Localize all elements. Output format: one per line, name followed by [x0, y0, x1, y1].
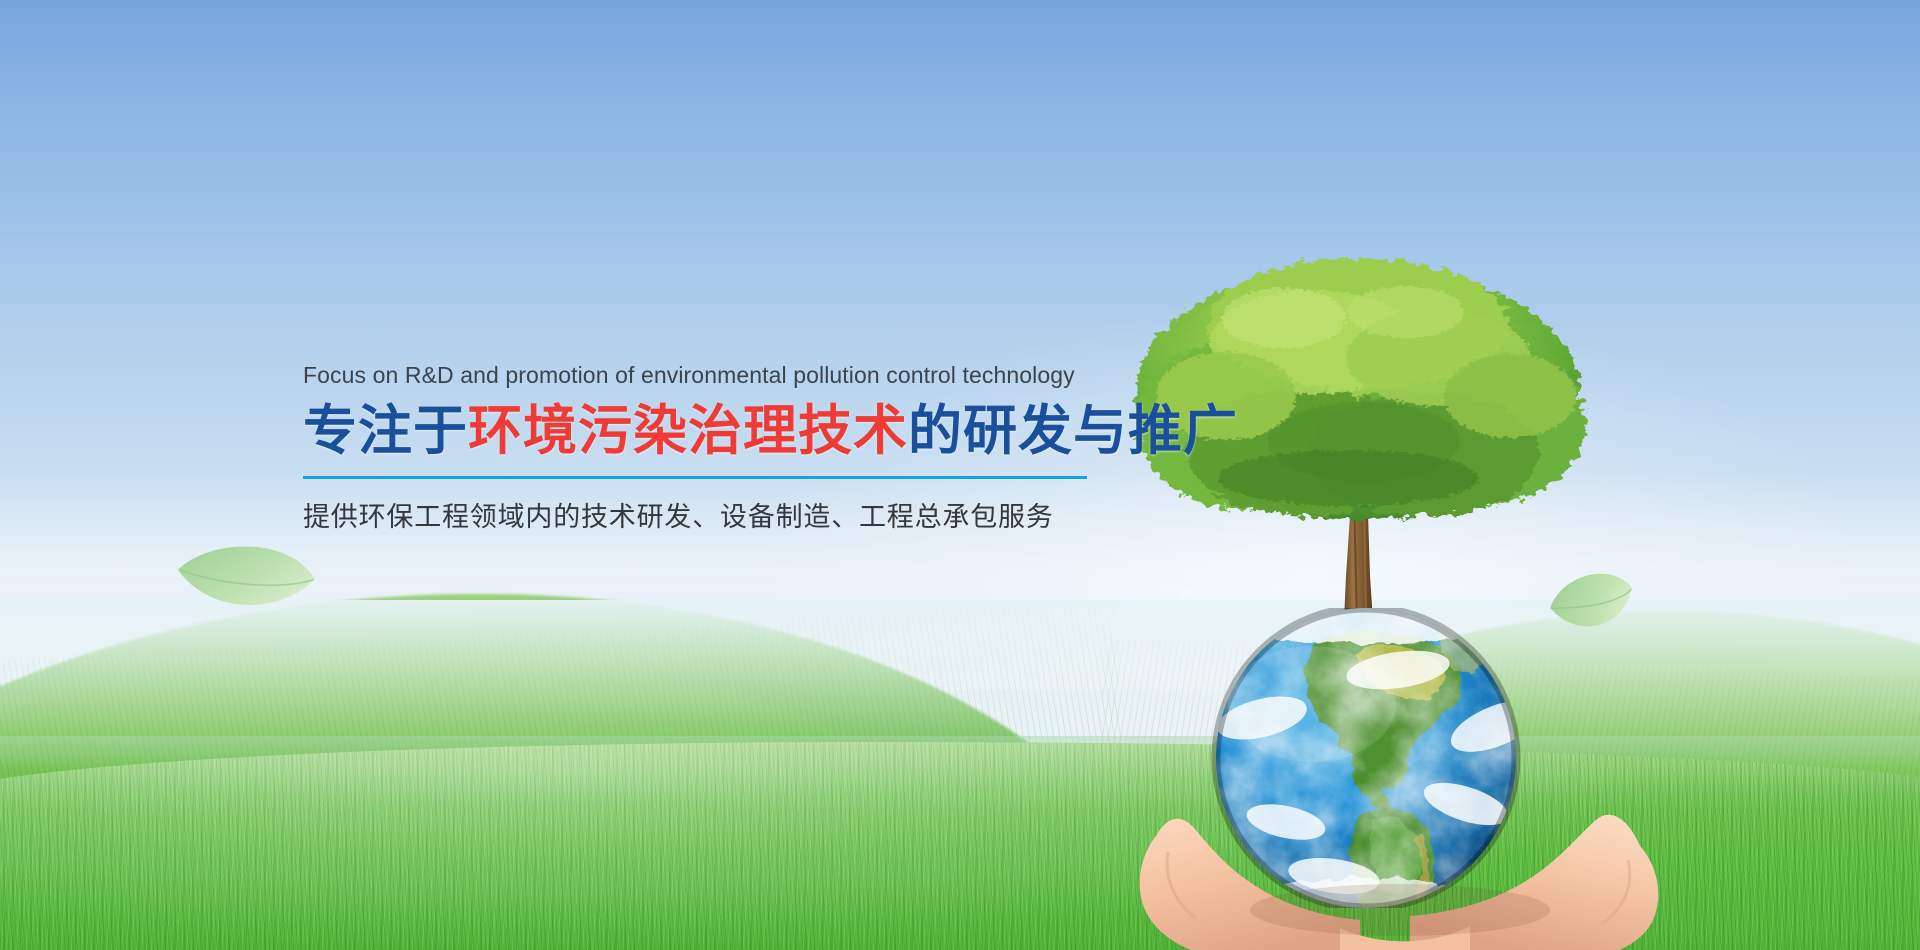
headline-part-2: 环境污染治理技术 — [468, 399, 908, 462]
hero-banner: Focus on R&D and promotion of environmen… — [0, 0, 1920, 950]
hero-headline: 专注于环境污染治理技术的研发与推广 — [303, 398, 1103, 464]
headline-divider — [303, 476, 1087, 479]
cupped-hands-illustration — [1110, 760, 1690, 950]
hero-tagline: 提供环保工程领域内的技术研发、设备制造、工程总承包服务 — [303, 499, 1103, 537]
hero-copy: Focus on R&D and promotion of environmen… — [303, 360, 1103, 537]
hero-eyebrow: Focus on R&D and promotion of environmen… — [303, 360, 1103, 390]
headline-part-1: 专注于 — [303, 399, 468, 462]
headline-part-3: 的研发与推广 — [908, 399, 1238, 462]
